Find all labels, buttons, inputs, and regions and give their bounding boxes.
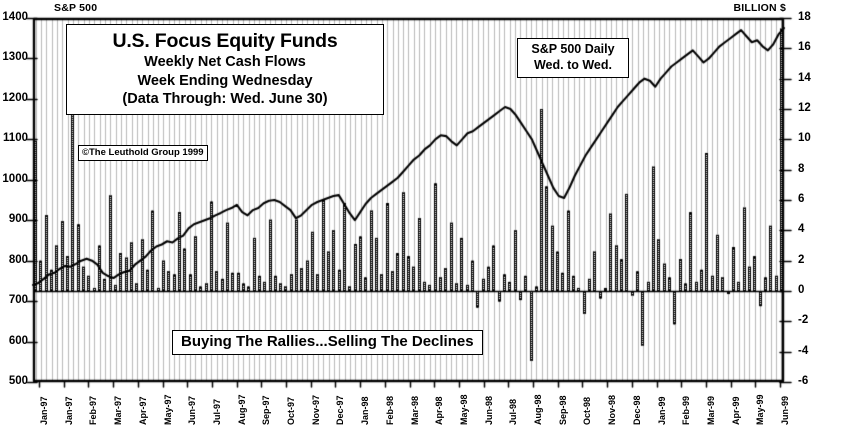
- right-axis-tick-16: 16: [798, 41, 828, 53]
- copyright-notice: ©The Leuthold Group 1999: [78, 145, 208, 161]
- x-axis-tick-14: Feb-98: [385, 396, 395, 425]
- x-axis-tick-0: Jan-97: [39, 396, 49, 425]
- left-axis-tick-500: 500: [0, 375, 28, 387]
- x-axis-tick-25: Jan-99: [657, 396, 667, 425]
- x-axis-tick-28: Apr-99: [731, 396, 741, 425]
- x-axis-tick-26: Feb-99: [681, 396, 691, 425]
- right-axis-tick--4: -4: [798, 345, 828, 357]
- x-axis-tick-15: Mar-98: [410, 396, 420, 425]
- x-axis-tick-30: Jun-99: [780, 396, 790, 425]
- sp500-annotation-line-2: Wed. to Wed.: [518, 58, 628, 74]
- x-axis-tick-7: Jul-97: [212, 399, 222, 425]
- x-axis-tick-20: Aug-98: [533, 394, 543, 425]
- left-axis-tick-900: 900: [0, 213, 28, 225]
- left-axis-tick-1000: 1000: [0, 173, 28, 185]
- x-axis-tick-4: Apr-97: [138, 396, 148, 425]
- x-axis-tick-11: Nov-97: [311, 395, 321, 425]
- chart-title-box: U.S. Focus Equity Funds Weekly Net Cash …: [66, 24, 384, 115]
- title-line-4: (Data Through: Wed. June 30): [67, 90, 383, 108]
- left-axis-tick-1100: 1100: [0, 132, 28, 144]
- right-axis-tick-2: 2: [798, 254, 828, 266]
- x-axis-tick-1: Jan-97: [64, 396, 74, 425]
- right-axis-tick-14: 14: [798, 72, 828, 84]
- right-axis-tick-8: 8: [798, 163, 828, 175]
- left-axis-tick-1400: 1400: [0, 11, 28, 23]
- x-axis-tick-9: Sep-97: [261, 395, 271, 425]
- left-axis-tick-1300: 1300: [0, 51, 28, 63]
- title-line-2: Weekly Net Cash Flows: [67, 53, 383, 71]
- x-axis-tick-19: Jul-98: [508, 399, 518, 425]
- left-axis-tick-700: 700: [0, 294, 28, 306]
- x-axis-tick-8: Aug-97: [237, 394, 247, 425]
- x-axis-tick-24: Dec-98: [632, 395, 642, 425]
- x-axis-tick-13: Jan-98: [360, 396, 370, 425]
- right-axis-tick-10: 10: [798, 132, 828, 144]
- right-axis-title: BILLION $: [733, 2, 786, 14]
- bottom-annotation: Buying The Rallies...Selling The Decline…: [172, 330, 483, 355]
- x-axis-tick-6: Jun-97: [187, 396, 197, 425]
- left-axis-tick-600: 600: [0, 335, 28, 347]
- right-axis-tick-4: 4: [798, 223, 828, 235]
- x-axis-tick-2: Feb-97: [88, 396, 98, 425]
- sp500-line-annotation: S&P 500 Daily Wed. to Wed.: [517, 38, 629, 78]
- left-axis-tick-1200: 1200: [0, 92, 28, 104]
- x-axis-tick-21: Sep-98: [558, 395, 568, 425]
- x-axis-tick-27: Mar-99: [706, 396, 716, 425]
- x-axis-tick-12: Dec-97: [335, 395, 345, 425]
- title-line-3: Week Ending Wednesday: [67, 72, 383, 90]
- right-axis-tick-12: 12: [798, 102, 828, 114]
- right-axis-tick--2: -2: [798, 314, 828, 326]
- right-axis-tick--6: -6: [798, 375, 828, 387]
- x-axis-tick-16: Apr-98: [434, 396, 444, 425]
- title-line-1: U.S. Focus Equity Funds: [67, 29, 383, 53]
- x-axis-tick-5: May-97: [163, 394, 173, 425]
- x-axis-tick-22: Oct-98: [582, 397, 592, 425]
- x-axis-tick-29: May-99: [755, 394, 765, 425]
- x-axis-tick-10: Oct-97: [286, 397, 296, 425]
- left-axis-tick-800: 800: [0, 254, 28, 266]
- right-axis-tick-18: 18: [798, 11, 828, 23]
- right-axis-tick-6: 6: [798, 193, 828, 205]
- right-axis-tick-0: 0: [798, 284, 828, 296]
- x-axis-tick-3: Mar-97: [113, 396, 123, 425]
- left-axis-title: S&P 500: [54, 2, 97, 14]
- x-axis-tick-18: Jun-98: [484, 396, 494, 425]
- x-axis-tick-23: Nov-98: [607, 395, 617, 425]
- sp500-annotation-line-1: S&P 500 Daily: [518, 42, 628, 58]
- x-axis-tick-17: May-98: [459, 394, 469, 425]
